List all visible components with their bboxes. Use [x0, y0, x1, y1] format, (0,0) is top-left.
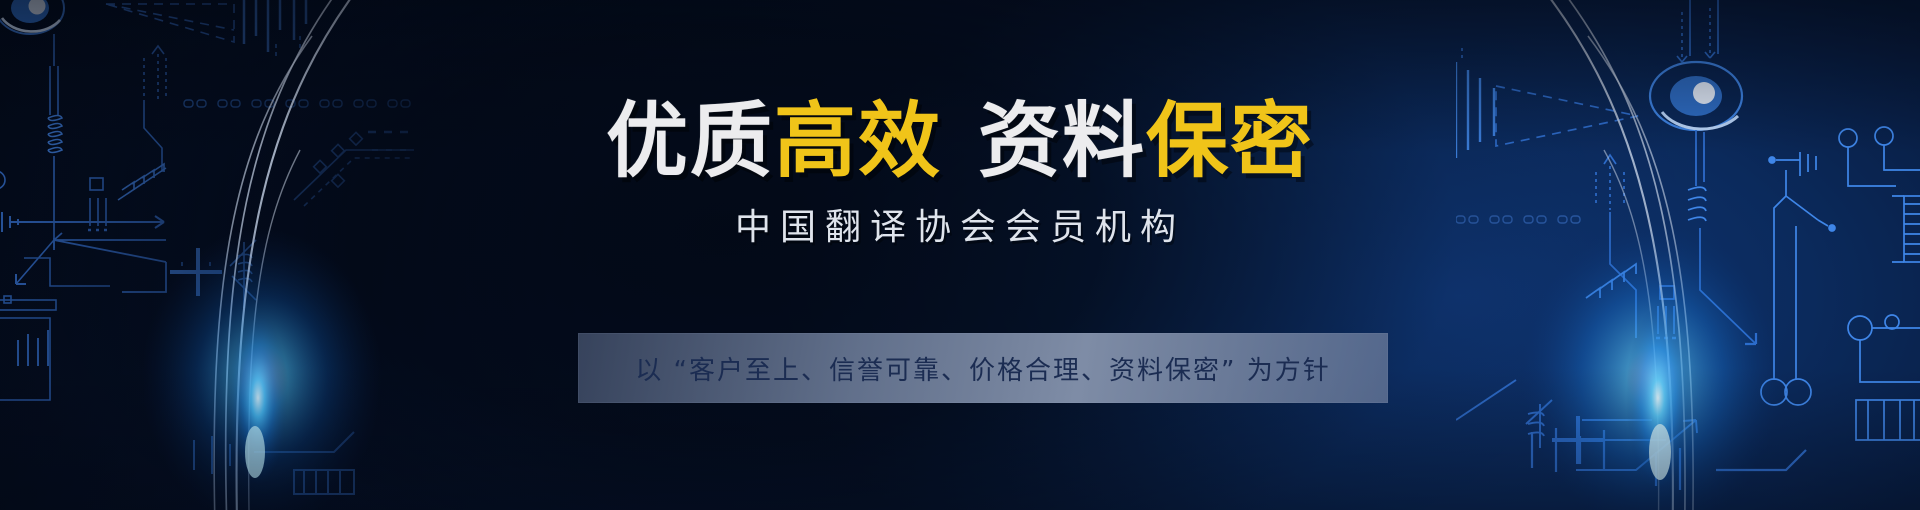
headline-part-2: 高效: [774, 94, 942, 190]
headline: 优质高效资料保密: [0, 94, 1920, 190]
headline-part-4: 保密: [1146, 94, 1314, 190]
slogan-text: 以 “客户至上、信誉可靠、价格合理、资料保密” 为方针: [635, 350, 1330, 387]
headline-part-3: 资料: [978, 94, 1146, 190]
slogan-bar: 以 “客户至上、信誉可靠、价格合理、资料保密” 为方针: [578, 333, 1388, 403]
headline-part-1: 优质: [606, 94, 774, 190]
banner-content: 优质高效资料保密 中国翻译协会会员机构 以 “客户至上、信誉可靠、价格合理、资料…: [0, 0, 1920, 510]
subtitle: 中国翻译协会会员机构: [0, 200, 1920, 256]
hero-banner: 优质高效资料保密 中国翻译协会会员机构 以 “客户至上、信誉可靠、价格合理、资料…: [0, 0, 1920, 510]
